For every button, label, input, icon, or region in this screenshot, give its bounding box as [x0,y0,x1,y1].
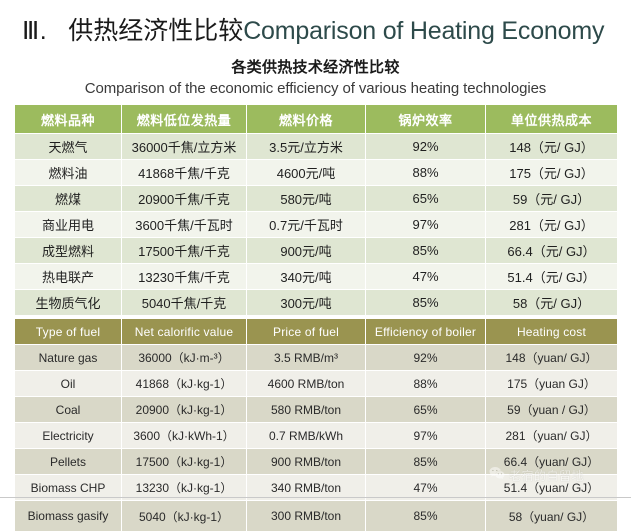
cell-heating-cost: 66.4（yuan/ GJ） [486,449,617,474]
column-header-heating-cost: 单位供热成本 [486,105,617,133]
cell-heating-cost: 59（yuan / GJ） [486,397,617,422]
cell-fuel-price: 340元/吨 [247,264,365,289]
cell-fuel-price: 3.5 RMB/m³ [247,345,365,370]
cell-boiler-efficiency: 88% [366,371,485,396]
cell-fuel-type: 生物质气化 [15,290,121,315]
chinese-table-body: 天燃气 36000千焦/立方米 3.5元/立方米 92% 148（元/ GJ） … [15,134,617,315]
english-table-body: Nature gas 36000（kJ·m-³） 3.5 RMB/m³ 92% … [15,345,617,531]
cell-heating-cost: 66.4（元/ GJ） [486,238,617,263]
cell-fuel-type: 热电联产 [15,264,121,289]
column-header-fuel-price: 燃料价格 [247,105,365,133]
cell-heating-cost: 58（元/ GJ） [486,290,617,315]
slide-title-chinese: 供热经济性比较 [68,11,243,47]
cell-heating-cost: 59（元/ GJ） [486,186,617,211]
table-row: Pellets 17500（kJ·kg-1） 900 RMB/ton 85% 6… [15,449,617,474]
cell-fuel-price: 580元/吨 [247,186,365,211]
cell-fuel-price: 300元/吨 [247,290,365,315]
cell-calorific-value: 5040（kJ·kg-1） [122,501,246,531]
cell-heating-cost: 281（元/ GJ） [486,212,617,237]
column-header-efficiency-of-boiler: Efficiency of boiler [366,319,485,344]
table-row: Oil 41868（kJ·kg-1） 4600 RMB/ton 88% 175（… [15,371,617,396]
cell-boiler-efficiency: 85% [366,238,485,263]
cell-fuel-type: 燃料油 [15,160,121,185]
cell-fuel-price: 0.7元/千瓦时 [247,212,365,237]
cell-fuel-type: 燃煤 [15,186,121,211]
subtitle-english: Comparison of the economic efficiency of… [0,80,631,97]
cell-heating-cost: 51.4（元/ GJ） [486,264,617,289]
cell-fuel-type: Pellets [15,449,121,474]
table-row: Nature gas 36000（kJ·m-³） 3.5 RMB/m³ 92% … [15,345,617,370]
cell-fuel-type: 天燃气 [15,134,121,159]
cell-calorific-value: 3600（kJ·kWh-1） [122,423,246,448]
cell-boiler-efficiency: 97% [366,423,485,448]
cell-heating-cost: 175（元/ GJ） [486,160,617,185]
cell-fuel-price: 300 RMB/ton [247,501,365,531]
cell-boiler-efficiency: 85% [366,449,485,474]
english-economy-table: Type of fuel Net calorific value Price o… [14,318,618,532]
cell-calorific-value: 20900（kJ·kg-1） [122,397,246,422]
column-header-net-calorific-value: Net calorific value [122,319,246,344]
cell-boiler-efficiency: 65% [366,397,485,422]
cell-boiler-efficiency: 47% [366,264,485,289]
table-row: 热电联产 13230千焦/千克 340元/吨 47% 51.4（元/ GJ） [15,264,617,289]
table-row: 成型燃料 17500千焦/千克 900元/吨 85% 66.4（元/ GJ） [15,238,617,263]
cell-calorific-value: 41868（kJ·kg-1） [122,371,246,396]
cell-calorific-value: 36000（kJ·m-³） [122,345,246,370]
column-header-type-of-fuel: Type of fuel [15,319,121,344]
table-header-row: 燃料品种 燃料低位发热量 燃料价格 锅炉效率 单位供热成本 [15,105,617,133]
table-row: 商业用电 3600千焦/千瓦时 0.7元/千瓦时 97% 281（元/ GJ） [15,212,617,237]
cell-calorific-value: 41868千焦/千克 [122,160,246,185]
column-header-fuel-type: 燃料品种 [15,105,121,133]
cell-boiler-efficiency: 92% [366,345,485,370]
slide-bottom-divider [0,497,631,498]
cell-boiler-efficiency: 85% [366,501,485,531]
cell-boiler-efficiency: 97% [366,212,485,237]
cell-calorific-value: 36000千焦/立方米 [122,134,246,159]
slide-title-english: Comparison of Heating Economy [243,17,604,46]
table-header-row: Type of fuel Net calorific value Price o… [15,319,617,344]
column-header-calorific-value: 燃料低位发热量 [122,105,246,133]
cell-boiler-efficiency: 88% [366,160,485,185]
table-row: Biomass gasify 5040（kJ·kg-1） 300 RMB/ton… [15,501,617,531]
cell-heating-cost: 148（yuan/ GJ） [486,345,617,370]
cell-fuel-price: 4600元/吨 [247,160,365,185]
cell-fuel-type: Nature gas [15,345,121,370]
cell-boiler-efficiency: 92% [366,134,485,159]
slide-title: Ⅲ. 供热经济性比较 Comparison of Heating Economy [0,0,631,47]
cell-calorific-value: 17500千焦/千克 [122,238,246,263]
cell-fuel-type: Coal [15,397,121,422]
column-header-heating-cost: Heating cost [486,319,617,344]
table-row: 天燃气 36000千焦/立方米 3.5元/立方米 92% 148（元/ GJ） [15,134,617,159]
cell-fuel-price: 4600 RMB/ton [247,371,365,396]
cell-fuel-price: 900元/吨 [247,238,365,263]
cell-fuel-type: Oil [15,371,121,396]
column-header-price-of-fuel: Price of fuel [247,319,365,344]
cell-fuel-price: 3.5元/立方米 [247,134,365,159]
cell-calorific-value: 13230千焦/千克 [122,264,246,289]
cell-calorific-value: 20900千焦/千克 [122,186,246,211]
column-header-boiler-efficiency: 锅炉效率 [366,105,485,133]
cell-calorific-value: 17500（kJ·kg-1） [122,449,246,474]
cell-fuel-type: 商业用电 [15,212,121,237]
subtitle-chinese: 各类供热技术经济性比较 [0,56,631,77]
chinese-table-wrapper: 燃料品种 燃料低位发热量 燃料价格 锅炉效率 单位供热成本 天燃气 36000千… [0,104,631,316]
cell-boiler-efficiency: 85% [366,290,485,315]
chinese-economy-table: 燃料品种 燃料低位发热量 燃料价格 锅炉效率 单位供热成本 天燃气 36000千… [14,104,618,316]
cell-heating-cost: 58（yuan/ GJ） [486,501,617,531]
cell-calorific-value: 3600千焦/千瓦时 [122,212,246,237]
cell-heating-cost: 148（元/ GJ） [486,134,617,159]
cell-heating-cost: 175（yuan GJ） [486,371,617,396]
table-row: Electricity 3600（kJ·kWh-1） 0.7 RMB/kWh 9… [15,423,617,448]
cell-heating-cost: 281（yuan/ GJ） [486,423,617,448]
table-row: Coal 20900（kJ·kg-1） 580 RMB/ton 65% 59（y… [15,397,617,422]
english-table-head: Type of fuel Net calorific value Price o… [15,319,617,344]
cell-fuel-type: Electricity [15,423,121,448]
table-row: 生物质气化 5040千焦/千克 300元/吨 85% 58（元/ GJ） [15,290,617,315]
cell-boiler-efficiency: 65% [366,186,485,211]
chinese-table-head: 燃料品种 燃料低位发热量 燃料价格 锅炉效率 单位供热成本 [15,105,617,133]
section-numeral: Ⅲ. [22,16,47,46]
cell-fuel-type: 成型燃料 [15,238,121,263]
cell-fuel-price: 580 RMB/ton [247,397,365,422]
cell-fuel-price: 900 RMB/ton [247,449,365,474]
table-row: 燃料油 41868千焦/千克 4600元/吨 88% 175（元/ GJ） [15,160,617,185]
cell-calorific-value: 5040千焦/千克 [122,290,246,315]
table-row: 燃煤 20900千焦/千克 580元/吨 65% 59（元/ GJ） [15,186,617,211]
cell-fuel-price: 0.7 RMB/kWh [247,423,365,448]
english-table-wrapper: Type of fuel Net calorific value Price o… [0,318,631,532]
cell-fuel-type: Biomass gasify [15,501,121,531]
